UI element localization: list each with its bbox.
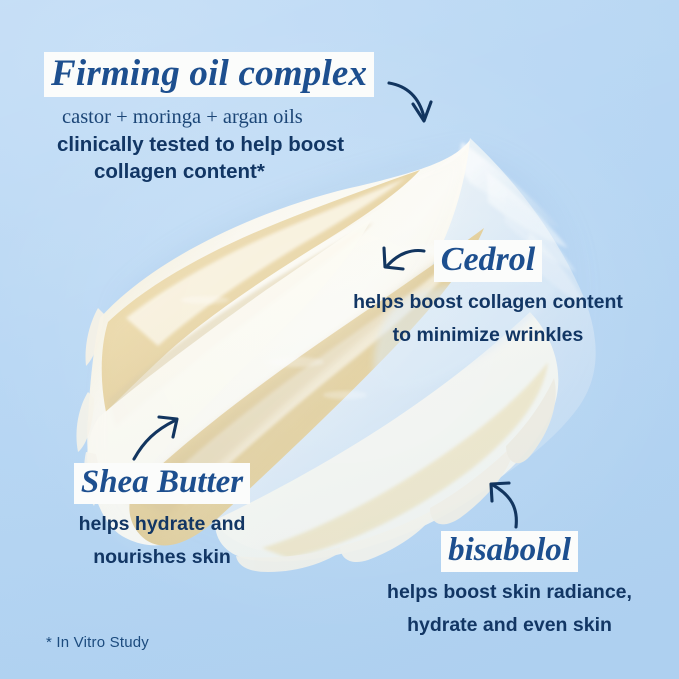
callout-bisabolol: bisabolol helps boost skin radiance, hyd… xyxy=(372,531,647,638)
bisabolol-line-2: hydrate and even skin xyxy=(372,614,647,638)
callout-shea-butter: Shea Butter helps hydrate and nourishes … xyxy=(37,463,287,570)
heading-firming-oil-complex: Firming oil complex xyxy=(44,52,374,97)
shea-line-1: helps hydrate and xyxy=(37,513,287,537)
cedrol-line-2: to minimize wrinkles xyxy=(343,324,633,348)
callout-cedrol: Cedrol helps boost collagen content to m… xyxy=(343,240,633,348)
firming-line-2: clinically tested to help boost xyxy=(44,132,374,157)
firming-line-3: collagen content* xyxy=(44,159,374,184)
firming-line-1: castor + moringa + argan oils xyxy=(44,105,374,130)
cedrol-line-1: helps boost collagen content xyxy=(343,291,633,315)
callout-firming-oil-complex: Firming oil complex castor + moringa + a… xyxy=(44,52,374,184)
shea-line-2: nourishes skin xyxy=(37,546,287,570)
heading-cedrol: Cedrol xyxy=(434,240,542,282)
footnote-in-vitro-study: * In Vitro Study xyxy=(46,634,149,651)
heading-bisabolol: bisabolol xyxy=(441,531,578,572)
ingredient-infographic: Firming oil complex castor + moringa + a… xyxy=(0,0,679,679)
heading-shea-butter: Shea Butter xyxy=(74,463,250,504)
bisabolol-line-1: helps boost skin radiance, xyxy=(372,581,647,605)
